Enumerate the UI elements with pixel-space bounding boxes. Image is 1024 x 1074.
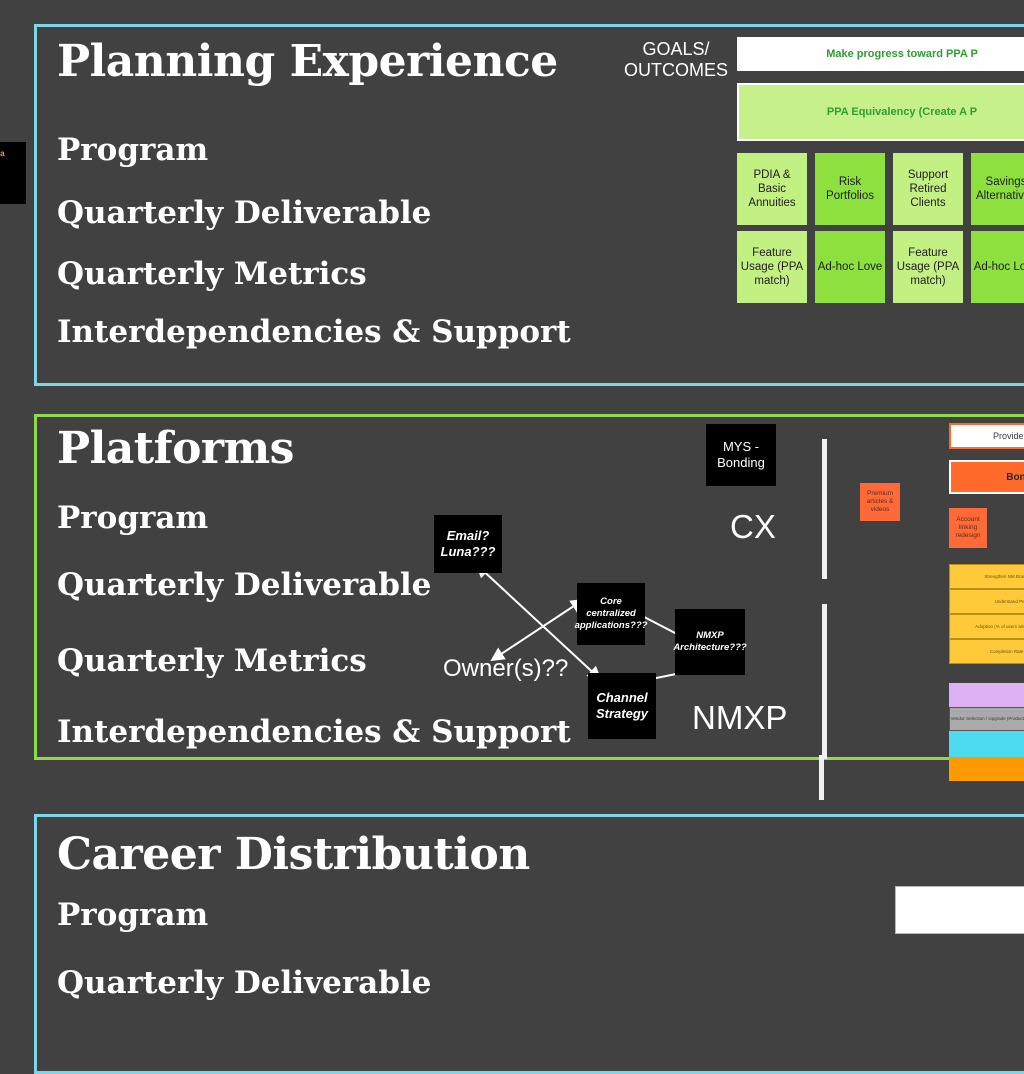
lane-row-program-career: Program [57, 897, 208, 933]
lane-row-interdependencies-support-platforms: Interdependencies & Support [57, 714, 571, 750]
sticky-core-centralized-applications[interactable]: Core centralized applications??? [577, 583, 645, 645]
block-orange-bar[interactable] [949, 757, 1024, 781]
lane-planning-experience: Planning Experience Program Quarterly De… [34, 24, 1024, 386]
lane-platforms: Platforms Program Quarterly Deliverable … [34, 414, 1024, 760]
planning-tile-savings-alternatives[interactable]: Savings Alternatives [971, 153, 1024, 225]
lane-row-quarterly-metrics-platforms: Quarterly Metrics [57, 643, 367, 679]
lane-title-career-distribution: Career Distribution [57, 829, 530, 880]
lane-row-quarterly-deliverable-platforms: Quarterly Deliverable [57, 567, 431, 603]
lane-row-program: Program [57, 132, 208, 168]
lane-row-quarterly-deliverable: Quarterly Deliverable [57, 195, 431, 231]
sticky-mys-bonding[interactable]: MYS - Bonding [706, 424, 776, 486]
block-understand-perceived[interactable]: Understand Perceived E [949, 589, 1024, 614]
axis-label-cx: CX [730, 508, 776, 546]
lane-row-program-platforms: Program [57, 500, 208, 536]
lane-row-quarterly-deliverable-career: Quarterly Deliverable [57, 965, 431, 1001]
planning-tile-pdia-basic-annuities[interactable]: PDIA & Basic Annuities [737, 153, 807, 225]
block-lavender-bar[interactable] [949, 683, 1024, 707]
block-account-linking-redesign[interactable]: Account linking redesign [949, 508, 987, 548]
career-empty-white-card[interactable] [895, 886, 1024, 934]
goals-label-line2: OUTCOMES [624, 60, 728, 80]
block-provide-access-bar[interactable]: Provide accu [949, 423, 1024, 449]
divider-line-gap [819, 755, 824, 800]
planning-tile-risk-portfolios[interactable]: Risk Portfolios [815, 153, 885, 225]
goal-bar-ppa-progress[interactable]: Make progress toward PPA P [737, 37, 1024, 71]
planning-tile-ad-hoc-love-2[interactable]: Ad-hoc Love [971, 231, 1024, 303]
divider-line-cx [822, 439, 827, 579]
lane-row-interdependencies-support: Interdependencies & Support [57, 314, 571, 350]
sticky-nmxp-architecture[interactable]: NMXP Architecture??? [675, 609, 745, 675]
block-strengthen-nm-brand[interactable]: Strengthen NM Brand - Increase C [949, 564, 1024, 589]
block-adoption-metric[interactable]: Adoption (% of users with connec account… [949, 614, 1024, 639]
planning-tile-ad-hoc-love-1[interactable]: Ad-hoc Love [815, 231, 885, 303]
edge-clipped-sticky: e a [0, 142, 26, 204]
lane-title-platforms: Platforms [57, 423, 294, 474]
lane-title-planning: Planning Experience [57, 36, 558, 87]
goals-outcomes-column-label: GOALS/ OUTCOMES [621, 39, 731, 81]
block-vendor-selection-upgrade[interactable]: Vendor Selection / Upgrade (Product) [949, 707, 1024, 731]
planning-tile-feature-usage-1[interactable]: Feature Usage (PPA match) [737, 231, 807, 303]
axis-label-nmxp: NMXP [692, 699, 787, 737]
block-cyan-bar[interactable] [949, 731, 1024, 757]
planning-tile-feature-usage-2[interactable]: Feature Usage (PPA match) [893, 231, 963, 303]
sticky-email-luna[interactable]: Email? Luna??? [434, 515, 502, 573]
goal-bar-ppa-equivalency[interactable]: PPA Equivalency (Create A P [737, 83, 1024, 141]
block-completion-rate-metric[interactable]: Completion Rate (% drop off) [949, 639, 1024, 664]
planning-tile-support-retired-clients[interactable]: Support Retired Clients [893, 153, 963, 225]
sticky-channel-strategy[interactable]: Channel Strategy [588, 673, 656, 739]
block-bonding-bar[interactable]: Bond [949, 460, 1024, 494]
lane-row-quarterly-metrics: Quarterly Metrics [57, 256, 367, 292]
goals-label-line1: GOALS/ [642, 39, 709, 59]
divider-line-nmxp [822, 604, 827, 759]
block-premium-articles-videos[interactable]: Premium articles & videos [860, 483, 900, 521]
label-owners-question: Owner(s)?? [443, 655, 568, 683]
lane-career-distribution: Career Distribution Program Quarterly De… [34, 814, 1024, 1074]
